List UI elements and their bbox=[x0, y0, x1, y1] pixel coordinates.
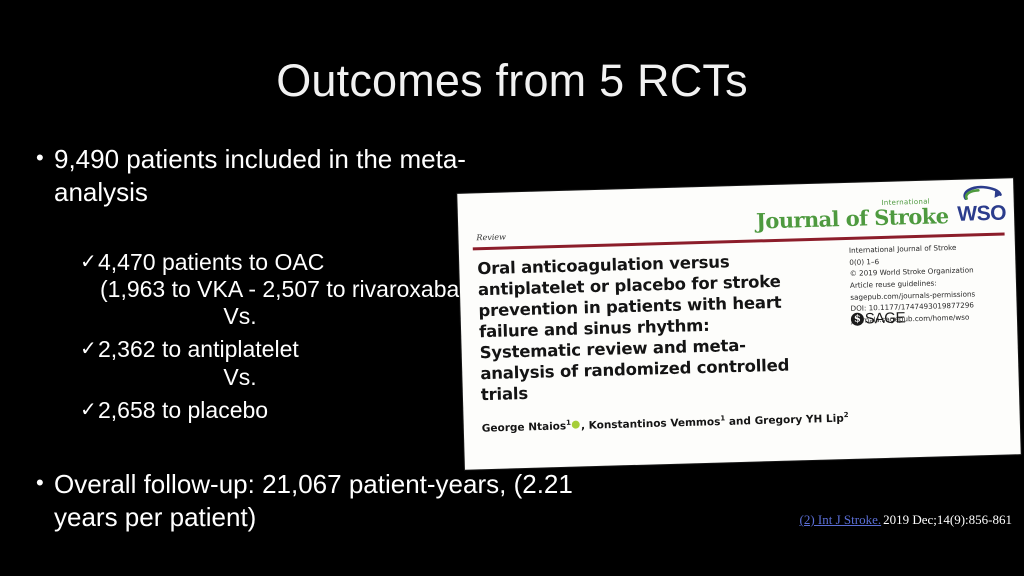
check-icon: ✓ bbox=[80, 249, 98, 276]
bullet-marker-icon: • bbox=[36, 143, 54, 173]
authors-conjunction: and bbox=[729, 415, 751, 428]
article-section-label: Review bbox=[476, 232, 506, 242]
checklist: ✓ 4,470 patients to OAC (1,963 to VKA - … bbox=[80, 249, 470, 424]
bullet-patients-text: 9,490 patients included in the meta-anal… bbox=[54, 143, 506, 210]
checklist-item-label-1: 2,362 to antiplatelet bbox=[98, 336, 299, 363]
citation-details: 2019 Dec;14(9):856-861 bbox=[883, 512, 1012, 527]
vs-label-1: Vs. bbox=[80, 303, 390, 330]
author-affiliation-0: 1 bbox=[566, 419, 571, 427]
check-icon: ✓ bbox=[80, 336, 98, 363]
bullet-followup-text: Overall follow-up: 21,067 patient-years,… bbox=[54, 468, 636, 535]
presentation-slide: Outcomes from 5 RCTs • 9,490 patients in… bbox=[0, 0, 1024, 576]
orcid-icon bbox=[572, 420, 580, 428]
bullet-marker-icon: • bbox=[36, 468, 54, 498]
check-icon: ✓ bbox=[80, 397, 98, 424]
journal-article-image: International Journal of Stroke WSO Revi… bbox=[457, 178, 1020, 469]
list-item: ✓ 2,658 to placebo bbox=[80, 397, 470, 424]
journal-masthead: International Journal of Stroke WSO bbox=[755, 181, 1006, 232]
author-name-0: George Ntaios bbox=[482, 420, 567, 434]
bullet-patients: • 9,490 patients included in the meta-an… bbox=[36, 143, 506, 210]
journal-logo: International Journal of Stroke bbox=[756, 198, 949, 231]
wso-text: WSO bbox=[957, 203, 1006, 225]
sage-publisher-name: SAGE bbox=[865, 309, 906, 327]
checklist-item-label-2: 2,658 to placebo bbox=[98, 397, 268, 424]
article-page: International Journal of Stroke WSO Revi… bbox=[457, 178, 1020, 469]
article-authors: George Ntaios1, Konstantinos Vemmos1 and… bbox=[482, 407, 1002, 435]
wso-logo: WSO bbox=[957, 185, 1007, 226]
author-affiliation-2: 2 bbox=[844, 411, 849, 419]
page-title: Outcomes from 5 RCTs bbox=[0, 56, 1024, 106]
article-title: Oral anticoagulation versus antiplatelet… bbox=[477, 250, 811, 406]
bullet-followup: • Overall follow-up: 21,067 patient-year… bbox=[36, 468, 636, 535]
citation-footer: (2) Int J Stroke.2019 Dec;14(9):856-861 bbox=[800, 512, 1013, 528]
journal-logo-name: Journal of Stroke bbox=[756, 206, 949, 231]
sage-mark-icon: $ bbox=[851, 313, 864, 326]
vs-label-2: Vs. bbox=[80, 364, 390, 391]
author-name-1: Konstantinos Vemmos bbox=[589, 416, 721, 432]
author-affiliation-1: 1 bbox=[720, 414, 725, 422]
list-item: ✓ 4,470 patients to OAC bbox=[80, 249, 470, 276]
checklist-item-sub-0: (1,963 to VKA - 2,507 to rivaroxaban) bbox=[80, 276, 470, 303]
sage-publisher-logo: $ SAGE bbox=[851, 309, 906, 328]
list-item: ✓ 2,362 to antiplatelet bbox=[80, 336, 470, 363]
author-name-2: Gregory YH Lip bbox=[754, 413, 843, 427]
checklist-item-label-0: 4,470 patients to OAC bbox=[98, 249, 324, 276]
citation-link[interactable]: (2) Int J Stroke. bbox=[800, 512, 882, 527]
